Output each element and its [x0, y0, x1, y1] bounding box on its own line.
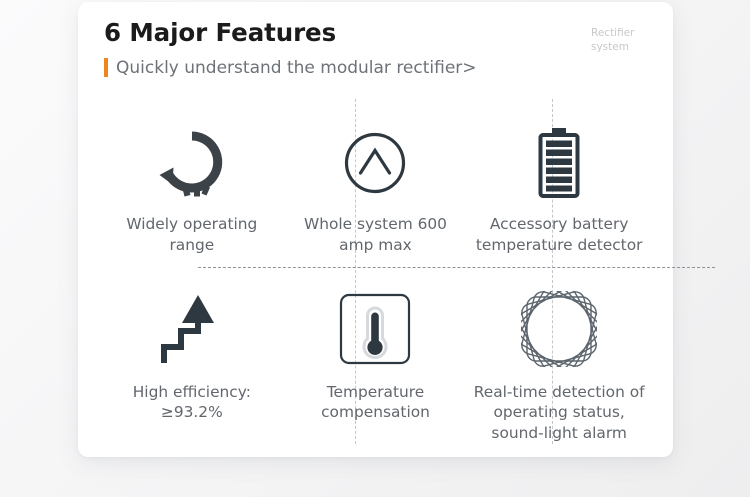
corner-brand-label: Rectifier system — [591, 26, 655, 54]
accent-bar — [104, 58, 108, 77]
feature-item: Widely operating range — [100, 99, 284, 264]
feature-item: High efficiency: ≥93.2% — [100, 264, 284, 444]
rotation-arrow-icon — [155, 120, 229, 206]
card-header: 6 Major Features Quickly understand the … — [104, 18, 655, 78]
feature-item: Real-time detection of operating status,… — [467, 264, 651, 444]
stairs-up-arrow-icon — [159, 286, 225, 372]
circle-chevron-up-icon — [342, 120, 408, 206]
page-background: 6 Major Features Quickly understand the … — [0, 0, 750, 497]
feature-caption: Accessory battery temperature detector — [473, 214, 645, 256]
features-card: 6 Major Features Quickly understand the … — [78, 2, 673, 457]
feature-item: Accessory battery temperature detector — [467, 99, 651, 264]
page-subtitle: Quickly understand the modular rectifier… — [116, 58, 477, 78]
radar-detection-icon — [521, 286, 597, 372]
thermometer-icon — [339, 286, 411, 372]
feature-caption: High efficiency: ≥93.2% — [106, 382, 278, 424]
feature-caption: Temperature compensation — [290, 382, 462, 424]
feature-caption: Real-time detection of operating status,… — [473, 382, 645, 444]
feature-caption: Widely operating range — [106, 214, 278, 256]
features-grid: Widely operating range Whole system 600 … — [100, 99, 651, 444]
battery-full-icon — [535, 120, 583, 206]
subtitle-row: Quickly understand the modular rectifier… — [104, 58, 655, 78]
feature-item: Whole system 600 amp max — [284, 99, 468, 264]
page-title: 6 Major Features — [104, 18, 655, 49]
feature-item: Temperature compensation — [284, 264, 468, 444]
feature-caption: Whole system 600 amp max — [290, 214, 462, 256]
